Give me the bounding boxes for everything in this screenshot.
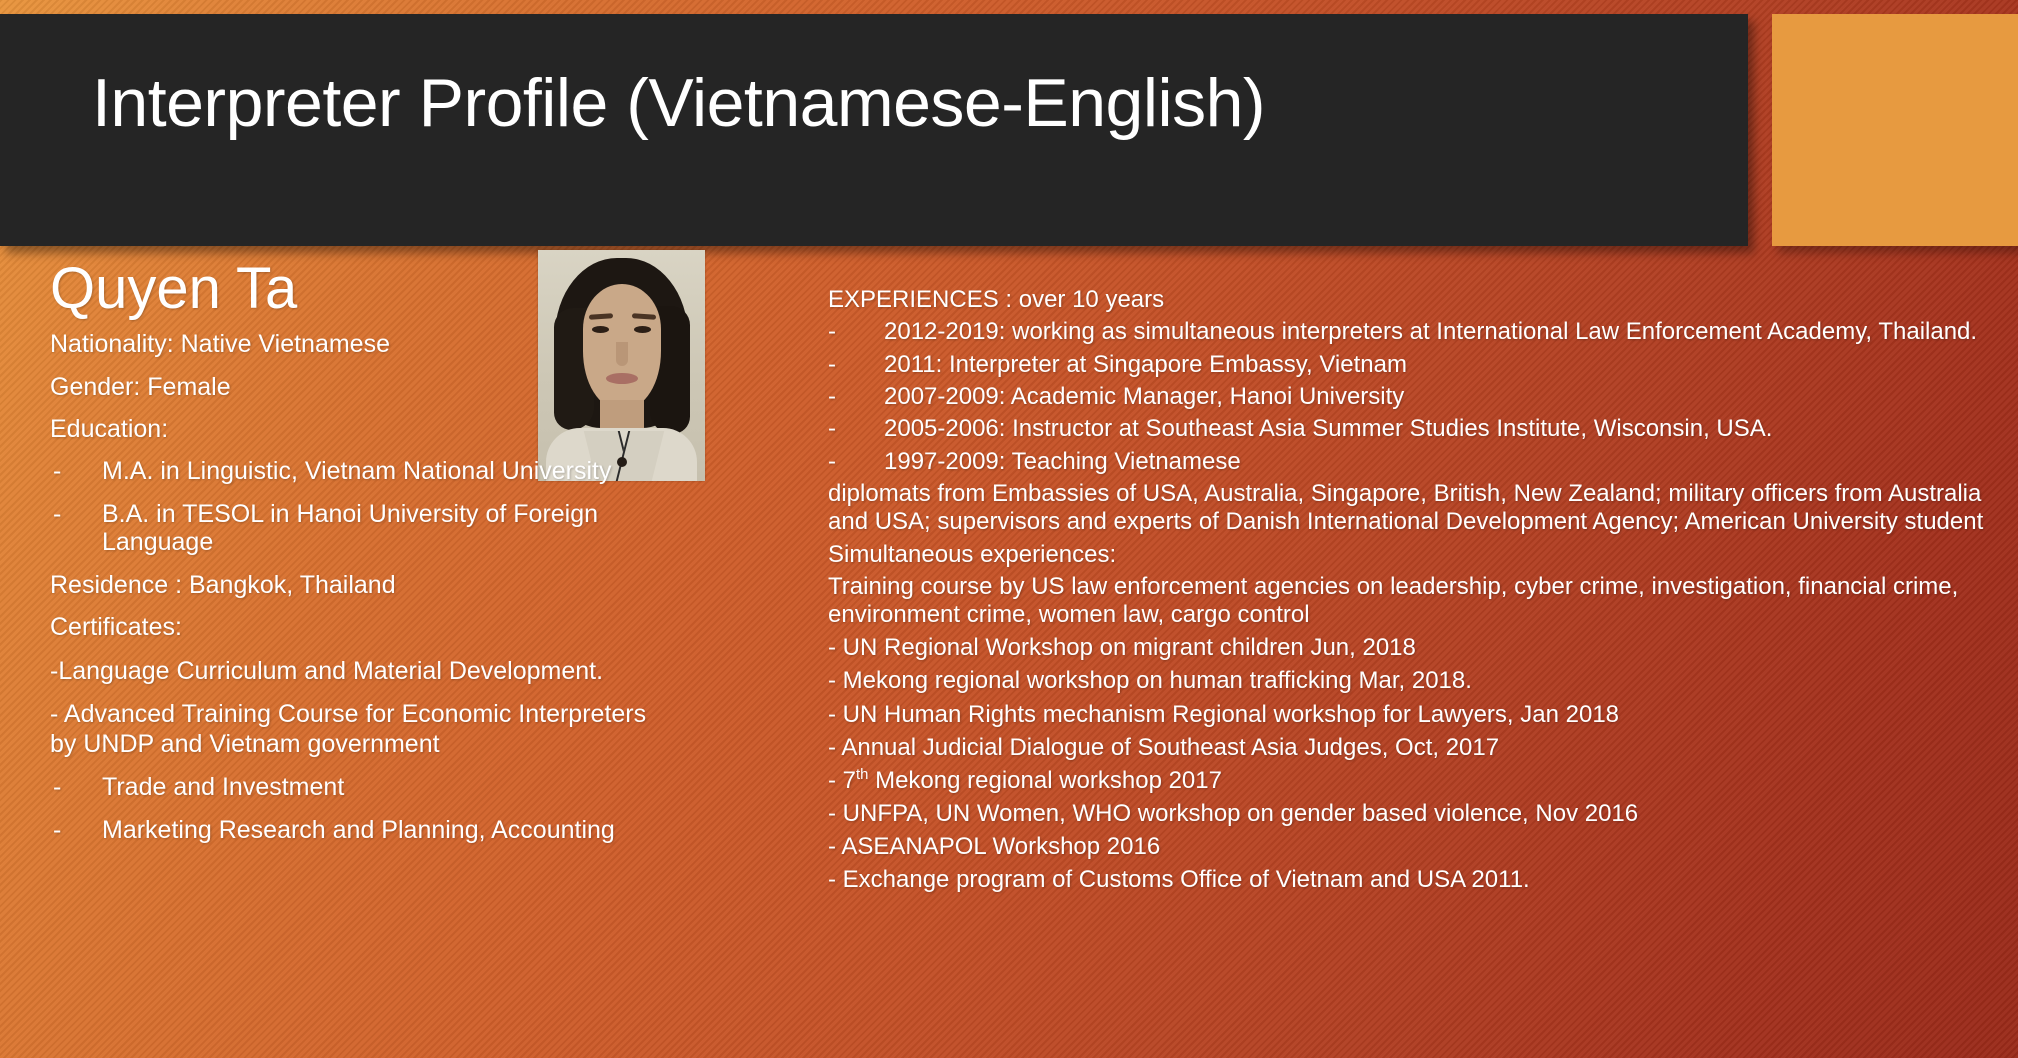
bullet-dash-icon: - [53,816,61,844]
education-item: - B.A. in TESOL in Hanoi University of F… [50,500,650,557]
workshop-item: - UN Human Rights mechanism Regional wor… [828,700,2008,729]
experience-item: - 1997-2009: Teaching Vietnamese [828,448,2008,476]
certificate-line: -Language Curriculum and Material Develo… [50,657,650,687]
workshop-item: - Annual Judicial Dialogue of Southeast … [828,733,2008,762]
residence-line: Residence : Bangkok, Thailand [50,572,650,600]
bullet-dash-icon: - [53,773,61,801]
experience-item-label: 1997-2009: Teaching Vietnamese [884,448,1241,475]
experience-item-label: 2005-2006: Instructor at Southeast Asia … [884,415,1772,442]
workshop-seventh-prefix: - 7 [828,767,856,794]
education-item: - M.A. in Linguistic, Vietnam National U… [50,457,650,485]
experience-item-label: 2012-2019: working as simultaneous inter… [884,318,1977,345]
education-item-label: B.A. in TESOL in Hanoi University of For… [102,500,598,556]
bullet-dash-icon: - [828,351,836,379]
profile-left-column: Quyen Ta Nationality: Native Vietnamese … [50,258,650,860]
bullet-dash-icon: - [828,383,836,411]
experience-item: - 2005-2006: Instructor at Southeast Asi… [828,415,2008,443]
title-bar: Interpreter Profile (Vietnamese-English) [0,14,1748,246]
bullet-dash-icon: - [53,500,61,528]
education-label: Education: [50,416,650,444]
workshop-item: - UN Regional Workshop on migrant childr… [828,633,2008,662]
education-item-label: M.A. in Linguistic, Vietnam National Uni… [102,457,611,485]
person-name: Quyen Ta [50,258,650,319]
workshop-item: - UNFPA, UN Women, WHO workshop on gende… [828,799,2008,828]
training-paragraph: Training course by US law enforcement ag… [828,573,2008,630]
certificate-item-label: Trade and Investment [102,773,344,801]
workshop-item: - ASEANAPOL Workshop 2016 [828,832,2008,861]
bullet-dash-icon: - [828,318,836,346]
experience-item-label: 2007-2009: Academic Manager, Hanoi Unive… [884,383,1404,410]
accent-block [1772,14,2018,246]
ordinal-suffix: th [856,767,868,783]
page-title: Interpreter Profile (Vietnamese-English) [92,64,1692,142]
clients-paragraph: diplomats from Embassies of USA, Austral… [828,480,2008,537]
slide-canvas: Interpreter Profile (Vietnamese-English)… [0,0,2018,1058]
experience-item: - 2011: Interpreter at Singapore Embassy… [828,351,2008,379]
certificate-item-label: Marketing Research and Planning, Account… [102,816,615,844]
workshop-item: - Mekong regional workshop on human traf… [828,666,2008,695]
profile-right-column: EXPERIENCES : over 10 years - 2012-2019:… [828,286,2008,898]
gender-line: Gender: Female [50,374,650,402]
experience-item: - 2007-2009: Academic Manager, Hanoi Uni… [828,383,2008,411]
certificate-line: - Advanced Training Course for Economic … [50,700,650,759]
bullet-dash-icon: - [828,415,836,443]
bullet-dash-icon: - [53,457,61,485]
bullet-dash-icon: - [828,448,836,476]
certificate-item: - Trade and Investment [50,773,650,801]
experiences-header: EXPERIENCES : over 10 years [828,286,2008,314]
nationality-line: Nationality: Native Vietnamese [50,331,650,359]
workshop-item: - Exchange program of Customs Office of … [828,865,2008,894]
experience-item-label: 2011: Interpreter at Singapore Embassy, … [884,351,1407,378]
certificate-item: - Marketing Research and Planning, Accou… [50,816,650,844]
certificates-label: Certificates: [50,614,650,642]
workshop-item-seventh: - 7th Mekong regional workshop 2017 [828,766,2008,795]
simultaneous-label: Simultaneous experiences: [828,541,2008,569]
workshop-seventh-rest: Mekong regional workshop 2017 [868,767,1222,794]
experience-item: - 2012-2019: working as simultaneous int… [828,318,2008,346]
